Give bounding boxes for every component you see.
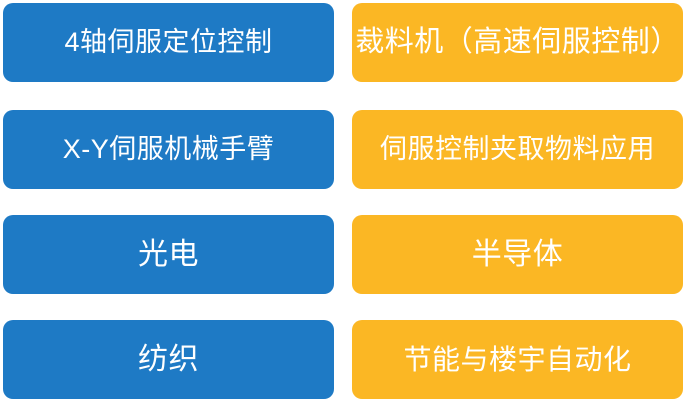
category-tile-cutting-machine[interactable]: 裁料机（高速伺服控制）: [352, 3, 683, 82]
category-tile-label: 光电: [138, 240, 199, 270]
category-tile-textile[interactable]: 纺织: [3, 320, 334, 399]
category-tile-label: X-Y伺服机械手臂: [63, 136, 275, 163]
category-tile-label: 伺服控制夹取物料应用: [380, 136, 655, 163]
category-tile-energy-saving-building-automation[interactable]: 节能与楼宇自动化: [352, 320, 683, 399]
category-tile-label: 裁料机（高速伺服控制）: [355, 28, 680, 57]
category-tile-label: 节能与楼宇自动化: [403, 346, 631, 374]
application-category-grid: 4轴伺服定位控制 裁料机（高速伺服控制） X-Y伺服机械手臂 伺服控制夹取物料应…: [0, 0, 686, 401]
category-tile-xy-servo-robot-arm[interactable]: X-Y伺服机械手臂: [3, 110, 334, 189]
category-tile-label: 半导体: [472, 240, 564, 270]
category-tile-optoelectronics[interactable]: 光电: [3, 215, 334, 294]
category-tile-servo-material-gripping[interactable]: 伺服控制夹取物料应用: [352, 110, 683, 189]
category-tile-semiconductor[interactable]: 半导体: [352, 215, 683, 294]
category-tile-4-axis-servo-positioning[interactable]: 4轴伺服定位控制: [3, 3, 334, 82]
category-tile-label: 纺织: [138, 345, 199, 375]
category-tile-label: 4轴伺服定位控制: [64, 29, 272, 56]
